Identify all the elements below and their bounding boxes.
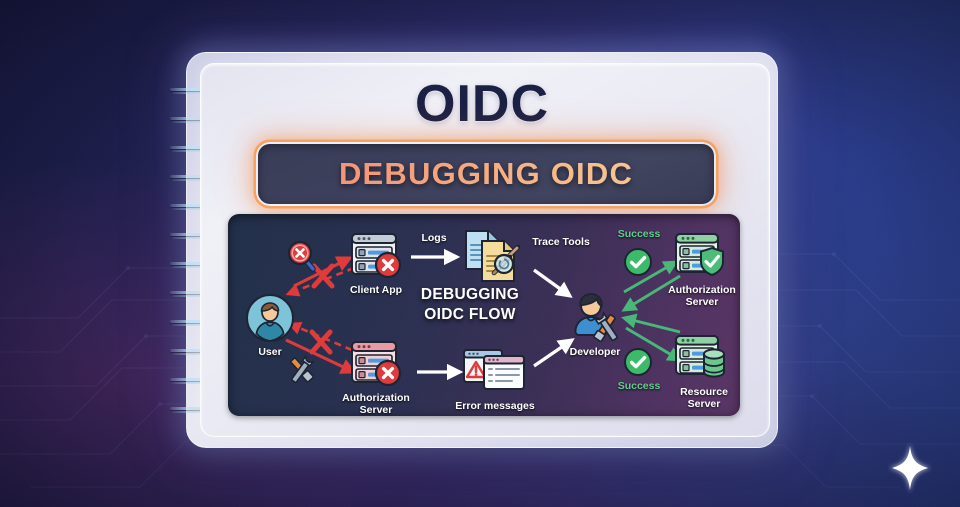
node-label-user: User — [248, 346, 292, 358]
node-label-client-app: Client App — [344, 284, 408, 296]
failed-cross-icon — [312, 332, 330, 352]
server-window-red-icon — [350, 340, 402, 386]
magnifier-x-icon — [286, 240, 320, 274]
server-window-icon — [350, 232, 402, 278]
server-shield-icon — [674, 232, 726, 278]
banner-box: DEBUGGING OIDC — [256, 142, 716, 206]
error-windows-icon — [462, 346, 526, 394]
user-avatar-icon — [246, 294, 294, 342]
node-label-error-messages: Error messages — [450, 400, 540, 412]
node-label-authorization-server-left: AuthorizationServer — [336, 392, 416, 416]
developer-tools-icon — [568, 292, 626, 344]
documents-magnifier-icon — [460, 228, 526, 284]
banner-title: DEBUGGING OIDC — [258, 144, 714, 204]
center-caption-line1: DEBUGGING — [400, 286, 540, 304]
edge-label-logs: Logs — [412, 232, 456, 244]
page-title: OIDC — [186, 74, 778, 134]
four-point-star-icon — [888, 442, 932, 494]
node-label-resource-server: ResourceServer — [672, 386, 736, 410]
server-database-icon — [674, 334, 726, 380]
node-label-developer: Developer — [564, 346, 626, 358]
shield-icon — [701, 248, 723, 275]
circle-check-icon — [624, 248, 652, 276]
center-caption-line2: OIDC FLOW — [400, 306, 540, 324]
database-icon — [704, 349, 724, 376]
diagram-panel: User Client App AuthorizationServer Erro… — [228, 214, 740, 416]
node-label-authorization-server-right: AuthorizationServer — [662, 284, 740, 308]
edge-label-trace-tools: Trace Tools — [524, 236, 598, 248]
edge-label-success-bottom: Success — [608, 380, 670, 392]
edge-label-success-top: Success — [608, 228, 670, 240]
circle-check-icon — [624, 348, 652, 376]
